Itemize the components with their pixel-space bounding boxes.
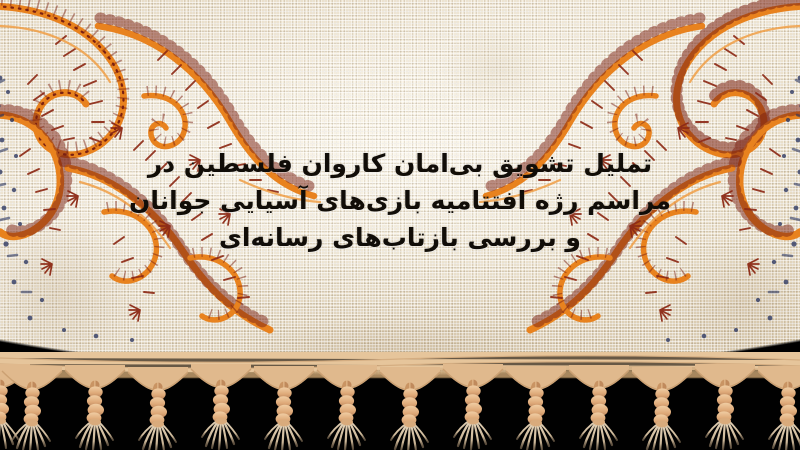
headline-text: تملیل تشویق بی‌امان کاروان فلسطین در مرا… xyxy=(120,145,680,256)
headline-line-3: و بررسی بازتاب‌های رسانه‌ای xyxy=(120,219,680,256)
image-canvas: تملیل تشویق بی‌امان کاروان فلسطین در مرا… xyxy=(0,0,800,450)
headline-line-1: تملیل تشویق بی‌امان کاروان فلسطین در xyxy=(120,145,680,182)
tassel-fringe xyxy=(0,352,800,450)
headline-line-2: مراسم رژه افتتامیه بازی‌های آسیایی جوانا… xyxy=(120,182,680,219)
